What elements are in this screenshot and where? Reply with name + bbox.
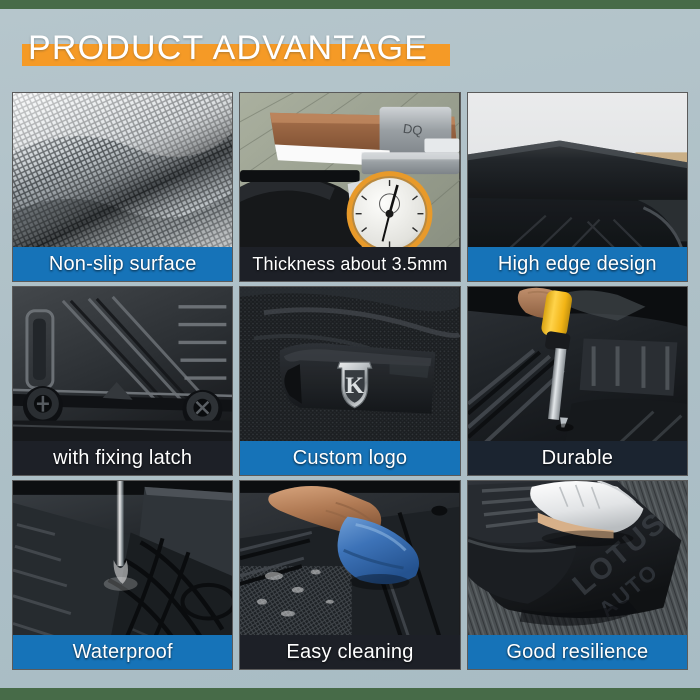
- page-title: PRODUCT ADVANTAGE: [22, 26, 438, 72]
- advantage-grid: Non-slip surface: [12, 92, 688, 670]
- product-advantage-infographic: PRODUCT ADVANTAGE: [0, 0, 700, 700]
- title-text: PRODUCT ADVANTAGE: [28, 26, 428, 70]
- caption-good-resilience: Good resilience: [468, 635, 687, 669]
- caption-custom-logo: Custom logo: [240, 441, 459, 475]
- advantage-cell-waterproof[interactable]: Waterproof: [12, 480, 233, 670]
- advantage-cell-durable[interactable]: Durable: [467, 286, 688, 476]
- advantage-cell-thickness[interactable]: DQ: [239, 92, 460, 282]
- bottom-letterbox-bar: [0, 688, 700, 700]
- advantage-cell-high-edge-design[interactable]: High edge design: [467, 92, 688, 282]
- svg-text:DQ: DQ: [402, 121, 423, 138]
- caption-durable: Durable: [468, 441, 687, 475]
- advantage-cell-fixing-latch[interactable]: with fixing latch: [12, 286, 233, 476]
- caption-thickness: Thickness about 3.5mm: [240, 247, 459, 281]
- caption-non-slip-surface: Non-slip surface: [13, 247, 232, 281]
- caption-waterproof: Waterproof: [13, 635, 232, 669]
- advantage-cell-easy-cleaning[interactable]: Easy cleaning: [239, 480, 460, 670]
- advantage-cell-good-resilience[interactable]: LOTUS AUTO Good resilience: [467, 480, 688, 670]
- caption-easy-cleaning: Easy cleaning: [240, 635, 459, 669]
- top-letterbox-bar: [0, 0, 700, 9]
- title-wrap: PRODUCT ADVANTAGE: [22, 26, 438, 70]
- caption-fixing-latch: with fixing latch: [13, 441, 232, 475]
- advantage-cell-custom-logo[interactable]: K Custom logo: [239, 286, 460, 476]
- caption-high-edge-design: High edge design: [468, 247, 687, 281]
- advantage-cell-non-slip-surface[interactable]: Non-slip surface: [12, 92, 233, 282]
